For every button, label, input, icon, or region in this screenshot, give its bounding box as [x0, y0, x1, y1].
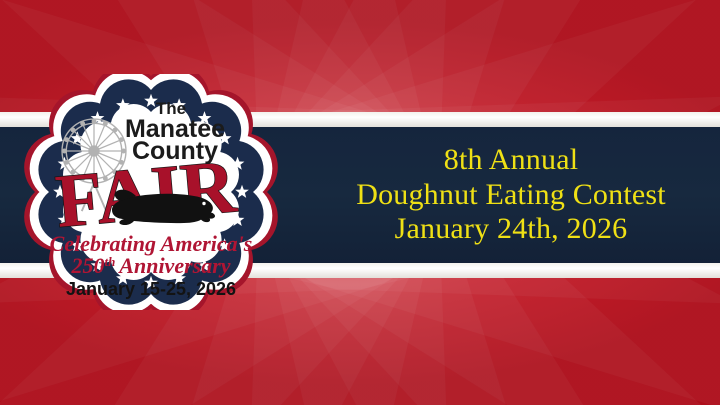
headline-line-1: 8th Annual [444, 143, 579, 178]
logo-dates: January 15-25, 2026 [66, 279, 236, 299]
logo-county-word: County [132, 137, 218, 165]
headline-line-3: January 24th, 2026 [395, 212, 628, 247]
ferris-cabin [64, 137, 69, 142]
logo-anniversary-suffix: th [104, 254, 115, 269]
ferris-cabin [121, 149, 126, 154]
ferris-cabin [92, 119, 97, 124]
ferris-cabin [71, 128, 76, 133]
ferris-cabin [112, 128, 117, 133]
headline-line-2: Doughnut Eating Contest [356, 178, 666, 213]
ferris-cabin [103, 121, 108, 126]
logo-anniversary-line: 250thAnniversary [70, 253, 230, 278]
logo-anniversary-word: Anniversary [117, 253, 230, 278]
ferris-cabin [62, 149, 67, 154]
manatee-county-fair-logo: FAIR The Manatee County Celebrating Amer… [8, 74, 294, 310]
ferris-cabin [80, 121, 85, 126]
event-headline: 8th Annual Doughnut Eating Contest Janua… [310, 128, 712, 262]
poster-canvas: 8th Annual Doughnut Eating Contest Janua… [0, 0, 720, 405]
logo-anniversary-number: 250 [70, 253, 104, 278]
ferris-cabin [119, 137, 124, 142]
